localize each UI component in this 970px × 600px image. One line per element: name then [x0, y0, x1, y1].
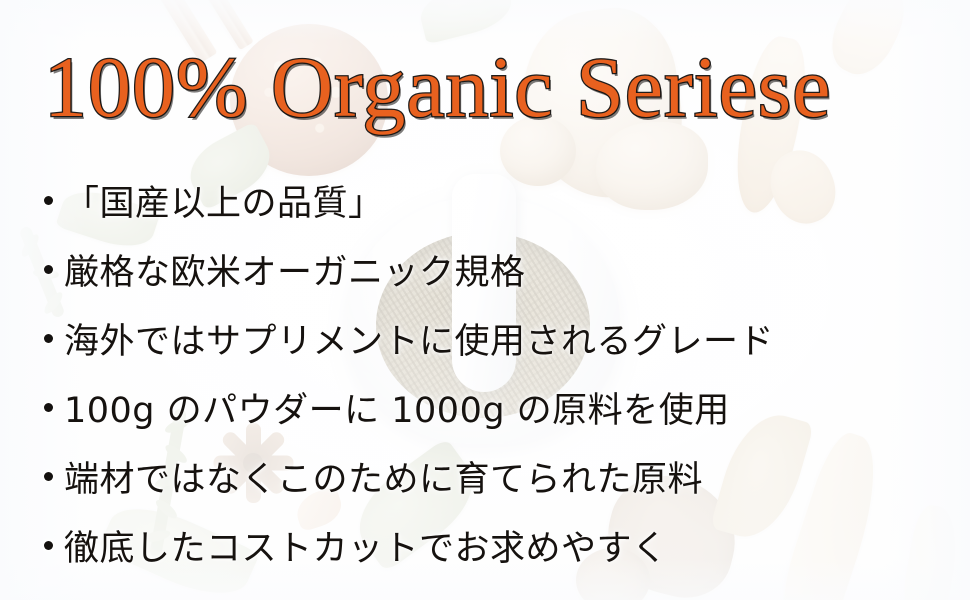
list-item-label: 端材ではなくこのために育てられた原料 [64, 451, 703, 502]
bullet-dot-icon [44, 265, 53, 274]
list-item: 徹底したコストカットでお求めやすく [40, 511, 940, 580]
list-item-label: 徹底したコストカットでお求めやすく [64, 520, 668, 571]
feature-bullet-list: 「国産以上の品質」 厳格な欧米オーガニック規格 海外ではサプリメントに使用される… [40, 166, 940, 580]
list-item-label: 「国産以上の品質」 [64, 175, 384, 226]
list-item: 厳格な欧米オーガニック規格 [40, 235, 940, 304]
list-item: 100g のパウダーに 1000g の原料を使用 [40, 373, 940, 442]
bullet-dot-icon [44, 334, 53, 343]
list-item-label: 100g のパウダーに 1000g の原料を使用 [64, 382, 730, 433]
organic-series-banner: 100% Organic Seriese 「国産以上の品質」 厳格な欧米オーガニ… [0, 0, 970, 600]
list-item-label: 海外ではサプリメントに使用されるグレード [64, 313, 774, 364]
bullet-dot-icon [44, 541, 53, 550]
list-item: 「国産以上の品質」 [40, 166, 940, 235]
page-title: 100% Organic Seriese [44, 44, 956, 130]
list-item-label: 厳格な欧米オーガニック規格 [64, 244, 526, 295]
bullet-dot-icon [44, 403, 53, 412]
sage-leaf-icon [416, 0, 517, 44]
list-item: 端材ではなくこのために育てられた原料 [40, 442, 940, 511]
list-item: 海外ではサプリメントに使用されるグレード [40, 304, 940, 373]
bullet-dot-icon [44, 472, 53, 481]
bullet-dot-icon [44, 196, 53, 205]
